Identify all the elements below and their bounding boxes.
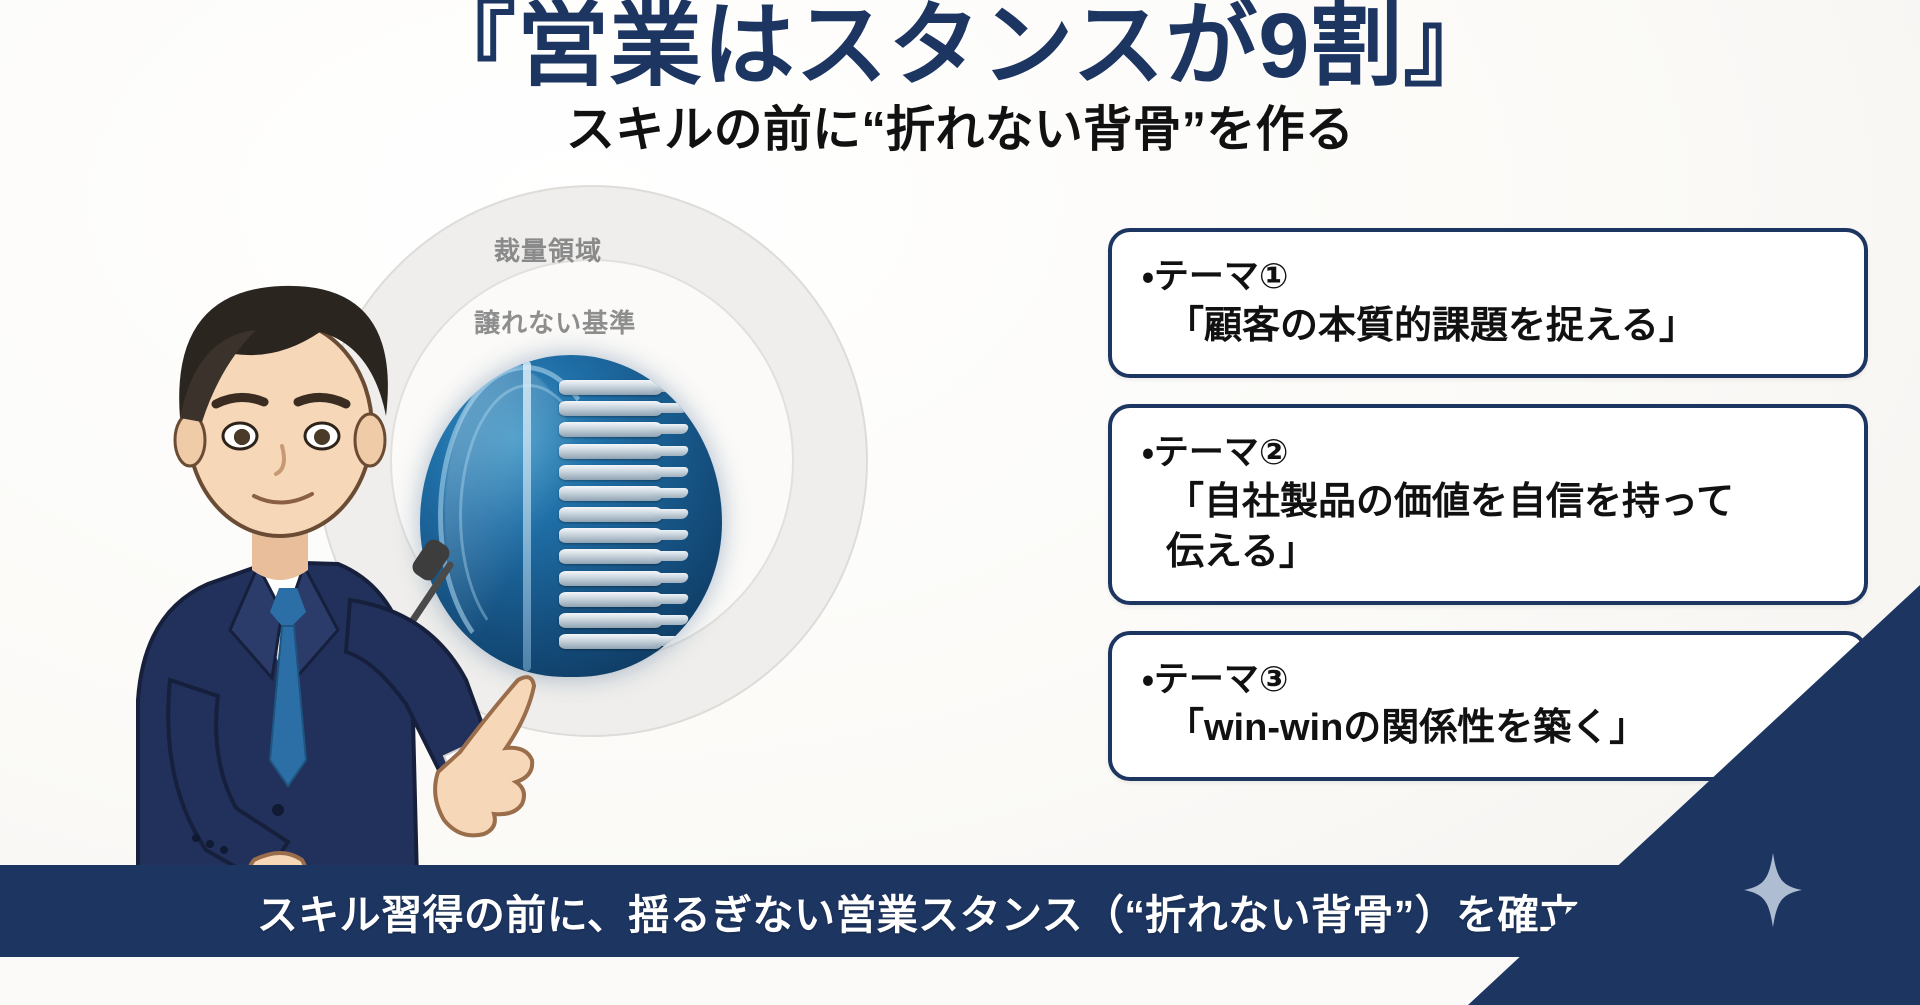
- theme-2-line-2: 伝える」: [1166, 528, 1836, 577]
- bottom-banner: スキル習得の前に、揺るぎない営業スタンス（“折れない背骨”）を確立する: [0, 865, 1920, 957]
- vertebrae-stack: [559, 368, 698, 671]
- title-block: 『営業はスタンスが9割』 スキルの前に“折れない背骨”を作る: [0, 0, 1920, 157]
- theme-2-tag: ・テーマ②: [1142, 430, 1836, 476]
- theme-2-line-1: 「自社製品の価値を自信を持って: [1166, 478, 1836, 527]
- page-subtitle: スキルの前に“折れない背骨”を作る: [0, 104, 1920, 158]
- theme-box-3[interactable]: ・テーマ③ 「win-winの関係性を築く」: [1108, 631, 1868, 781]
- page-title: 『営業はスタンスが9割』: [0, 0, 1920, 96]
- presenter-illustration: [20, 160, 540, 920]
- four-point-sparkle-icon: [1744, 853, 1802, 927]
- slide-root: 『営業はスタンスが9割』 スキルの前に“折れない背骨”を作る 裁量領域 譲れない…: [0, 0, 1920, 1005]
- banner-text: スキル習得の前に、揺るぎない営業スタンス（“折れない背骨”）を確立する: [257, 881, 1663, 941]
- theme-box-2[interactable]: ・テーマ② 「自社製品の価値を自信を持って 伝える」: [1108, 404, 1868, 605]
- theme-box-1[interactable]: ・テーマ① 「顧客の本質的課題を捉える」: [1108, 228, 1868, 378]
- theme-list: ・テーマ① 「顧客の本質的課題を捉える」 ・テーマ② 「自社製品の価値を自信を持…: [1108, 228, 1868, 781]
- theme-1-tag: ・テーマ①: [1142, 254, 1836, 300]
- theme-1-line-1: 「顧客の本質的課題を捉える」: [1166, 302, 1836, 351]
- theme-3-line-1: 「win-winの関係性を築く」: [1166, 704, 1836, 753]
- banner-base: [0, 957, 1920, 1005]
- theme-3-tag: ・テーマ③: [1142, 657, 1836, 703]
